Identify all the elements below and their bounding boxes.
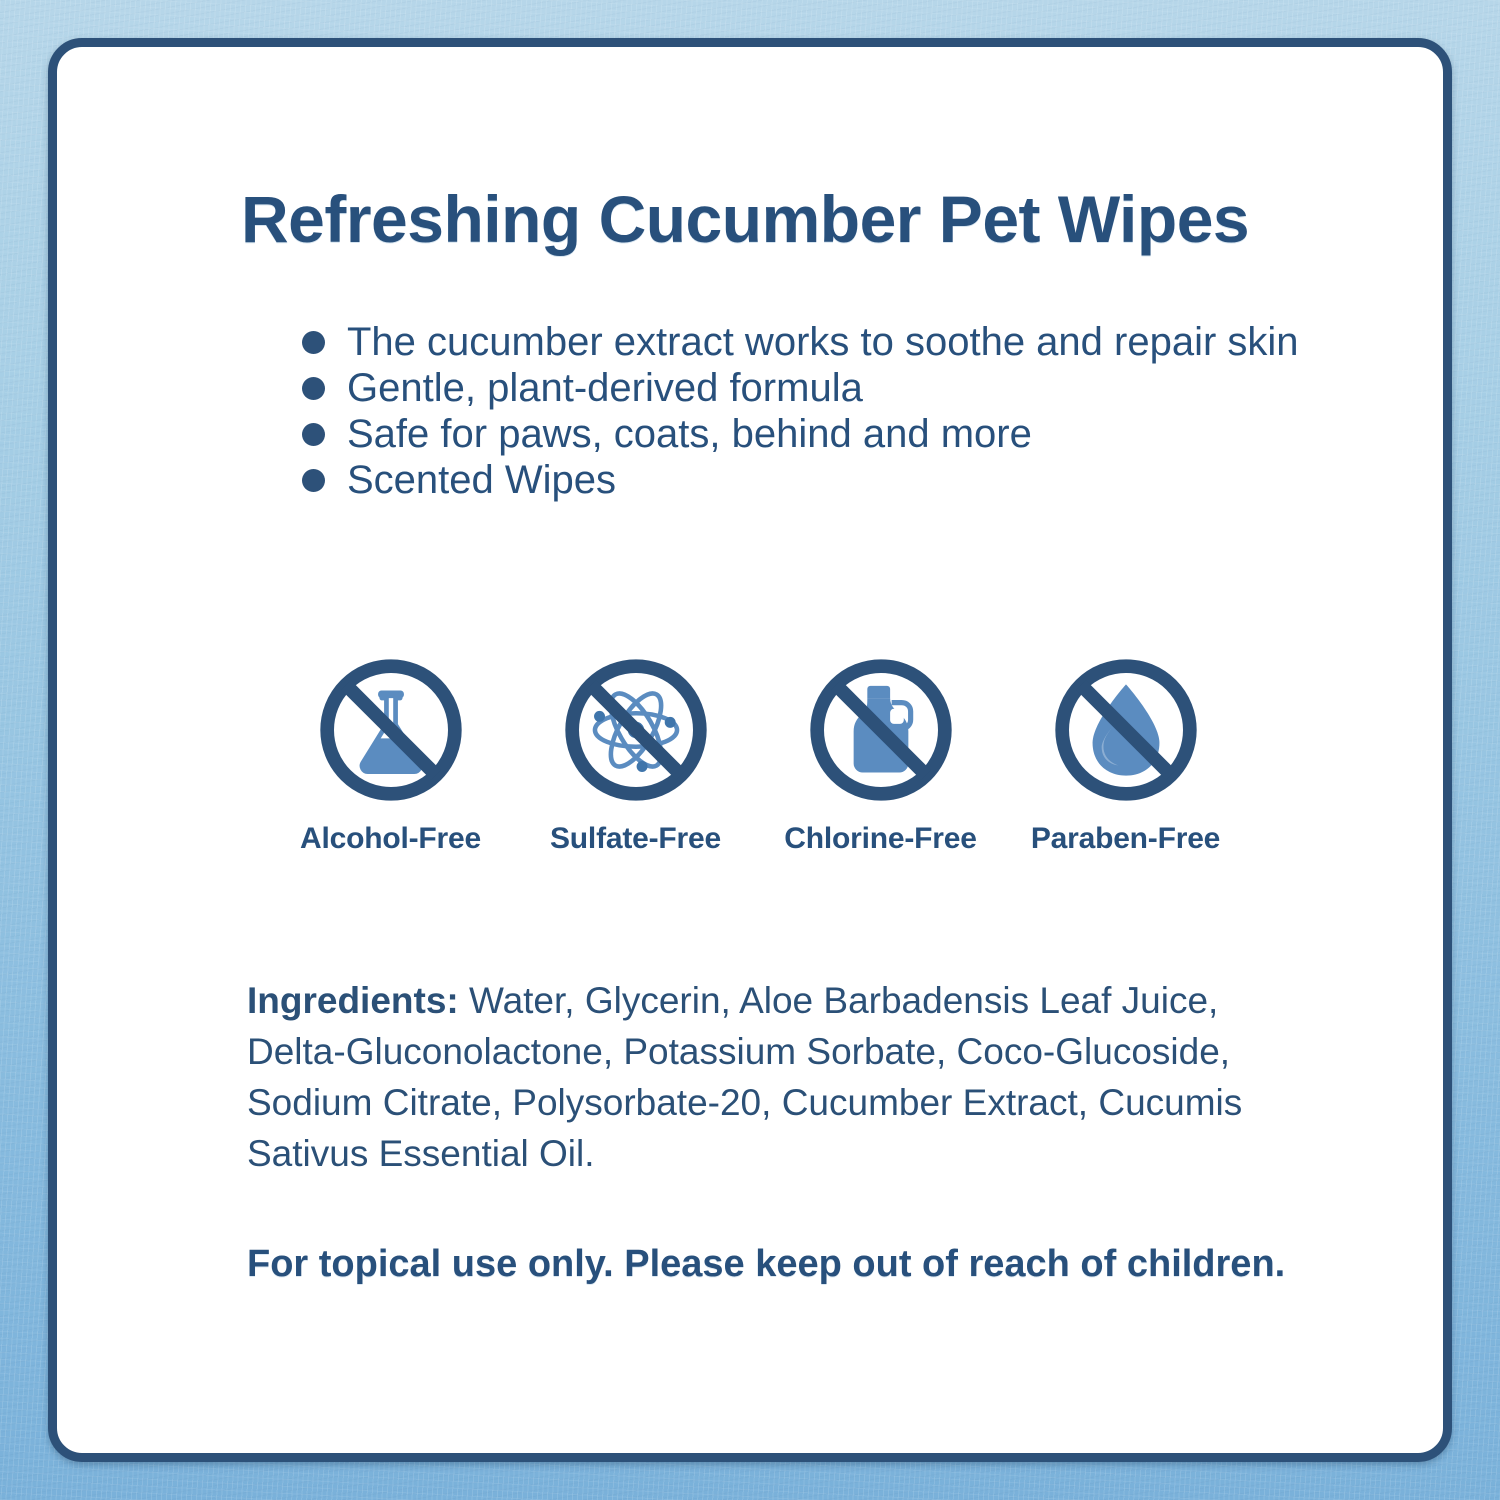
list-item: Scented Wipes: [247, 457, 1387, 503]
prohibition-ring: [327, 666, 455, 794]
no-atom-icon: [560, 654, 712, 806]
bullet-dot-icon: [302, 469, 325, 492]
ingredients-label: Ingredients:: [247, 980, 459, 1021]
ingredients-paragraph: Ingredients: Water, Glycerin, Aloe Barba…: [247, 975, 1307, 1179]
list-item: Gentle, plant-derived formula: [247, 365, 1387, 411]
bullet-dot-icon: [302, 331, 325, 354]
badge-paraben-free: Paraben-Free: [1018, 654, 1233, 856]
list-item: The cucumber extract works to soothe and…: [247, 319, 1387, 365]
no-flask-icon: [315, 654, 467, 806]
no-jug-icon: [805, 654, 957, 806]
bullet-text: Gentle, plant-derived formula: [347, 366, 863, 410]
bullet-text: Safe for paws, coats, behind and more: [347, 412, 1032, 456]
bullet-dot-icon: [302, 423, 325, 446]
badge-alcohol-free: Alcohol-Free: [283, 654, 498, 856]
prohibition-ring: [572, 666, 700, 794]
prohibition-ring: [817, 666, 945, 794]
page-title: Refreshing Cucumber Pet Wipes: [241, 181, 1361, 257]
feature-bullet-list: The cucumber extract works to soothe and…: [247, 319, 1387, 503]
product-info-card: Refreshing Cucumber Pet Wipes The cucumb…: [48, 38, 1452, 1462]
bullet-text: Scented Wipes: [347, 458, 616, 502]
badge-label: Sulfate-Free: [550, 822, 721, 856]
free-from-badge-row: Alcohol-Free: [283, 654, 1233, 856]
badge-sulfate-free: Sulfate-Free: [528, 654, 743, 856]
badge-label: Alcohol-Free: [300, 822, 481, 856]
safety-notice: For topical use only. Please keep out of…: [247, 1243, 1367, 1286]
bullet-dot-icon: [302, 377, 325, 400]
badge-chlorine-free: Chlorine-Free: [773, 654, 988, 856]
bullet-text: The cucumber extract works to soothe and…: [347, 320, 1299, 364]
badge-label: Chlorine-Free: [784, 822, 976, 856]
no-droplet-icon: [1050, 654, 1202, 806]
list-item: Safe for paws, coats, behind and more: [247, 411, 1387, 457]
badge-label: Paraben-Free: [1031, 822, 1220, 856]
